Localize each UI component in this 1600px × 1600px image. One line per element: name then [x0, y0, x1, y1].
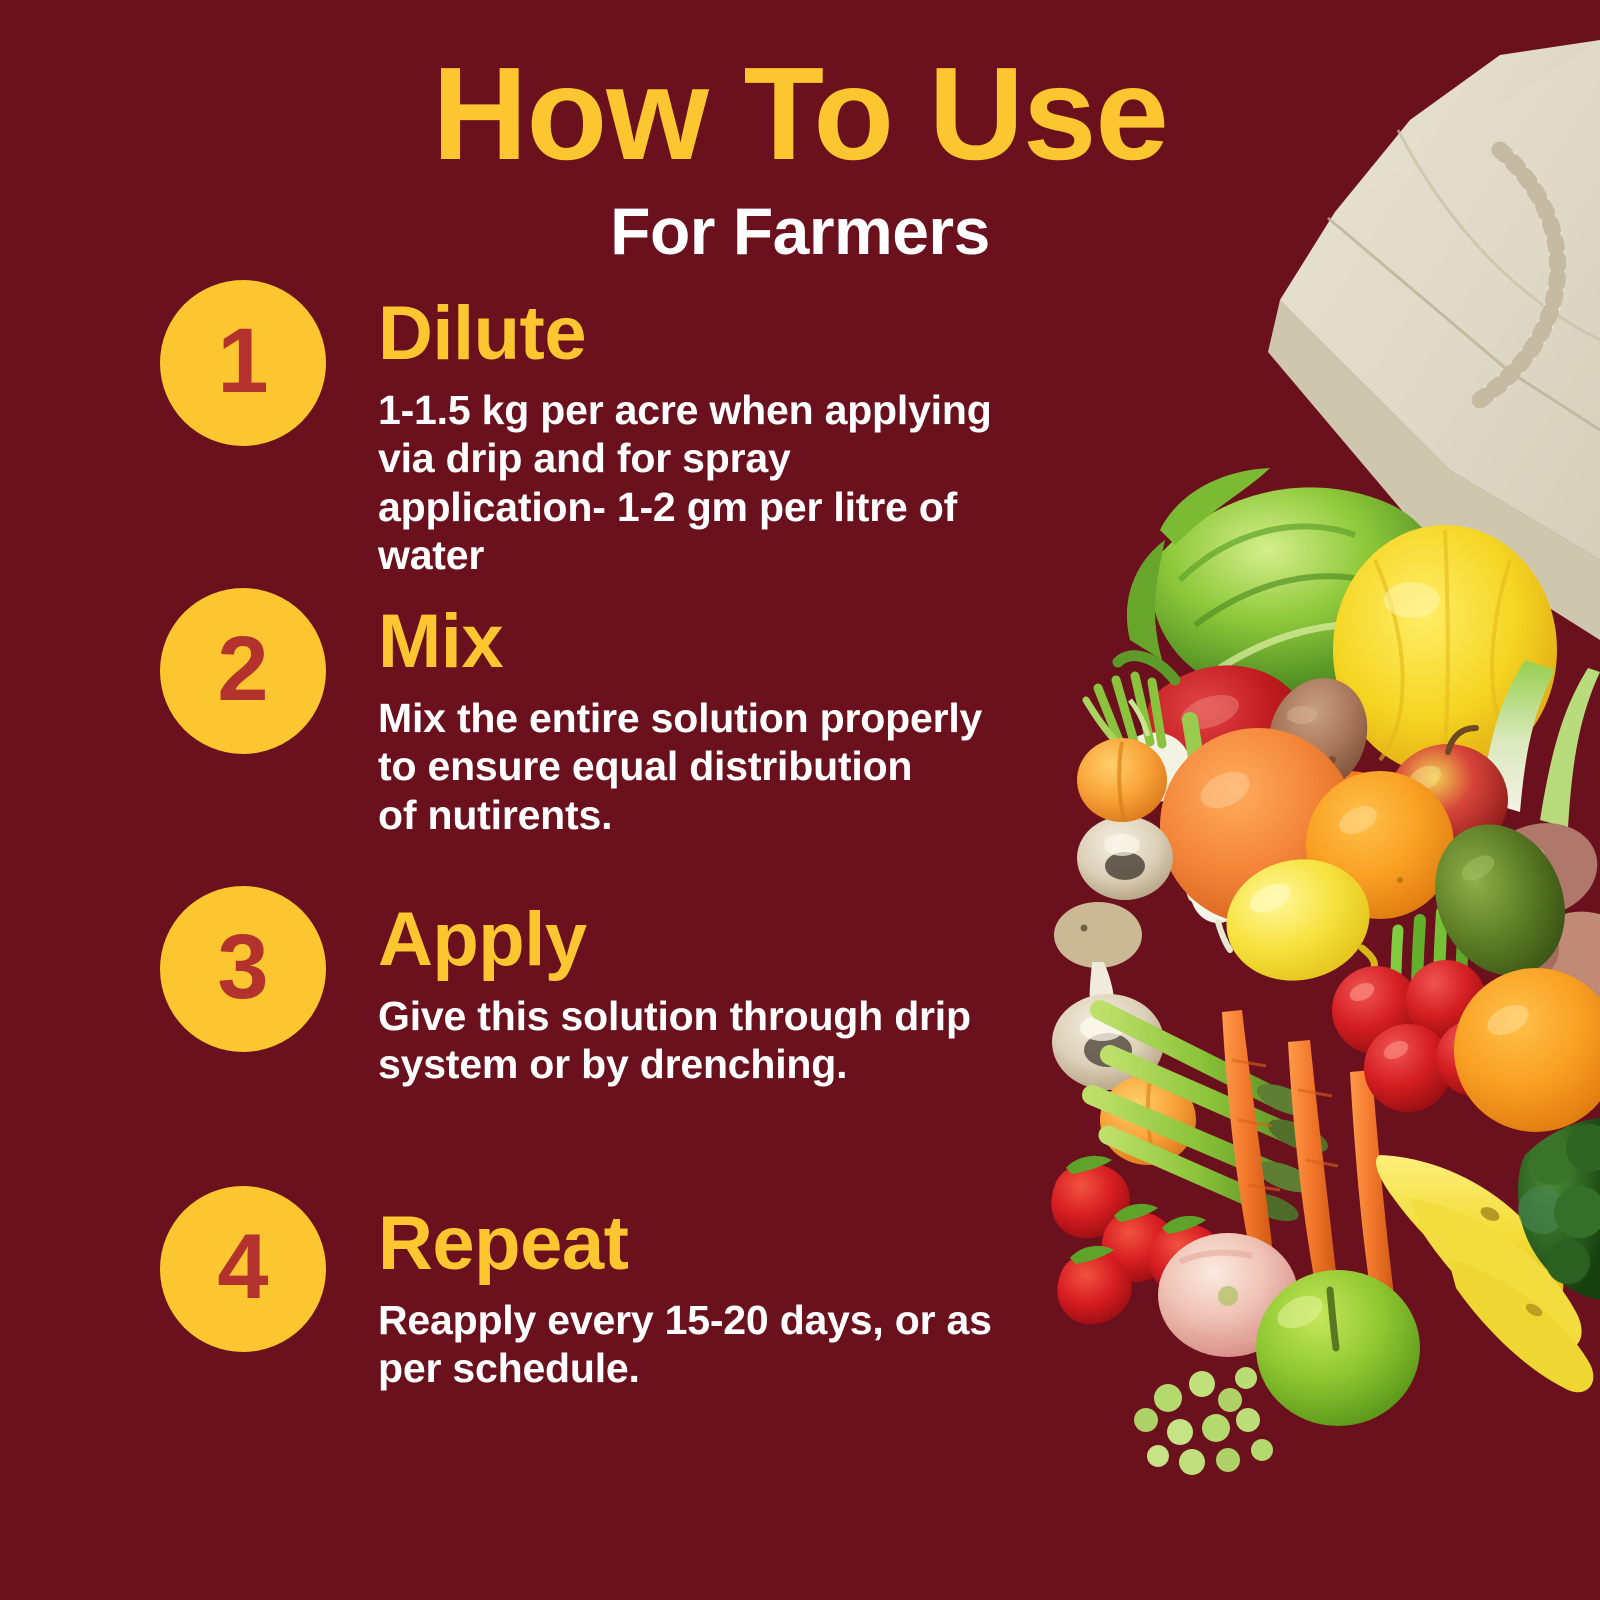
page-title: How To Use	[0, 48, 1600, 180]
step-description-3: Give this solution through drip system o…	[378, 992, 1060, 1089]
step-title-2: Mix	[378, 604, 1060, 680]
step-body-1: Dilute 1-1.5 kg per acre when applying v…	[378, 278, 1090, 580]
step-number-1: 1	[217, 315, 268, 407]
step-number-badge-4: 4	[160, 1186, 326, 1352]
green-peas	[1134, 1367, 1273, 1475]
step-description-1: 1-1.5 kg per acre when applying via drip…	[378, 386, 1060, 580]
step-body-2: Mix Mix the entire solution properly to …	[378, 588, 1090, 839]
step-body-3: Apply Give this solution through drip sy…	[378, 886, 1090, 1089]
green-apple	[1256, 1270, 1420, 1426]
page-subtitle: For Farmers	[0, 198, 1600, 264]
step-item-dilute: 1 Dilute 1-1.5 kg per acre when applying…	[0, 278, 1090, 580]
step-body-4: Repeat Reapply every 15-20 days, or as p…	[378, 1186, 1090, 1393]
step-item-mix: 2 Mix Mix the entire solution properly t…	[0, 588, 1090, 839]
step-number-4: 4	[217, 1221, 268, 1313]
mushroom-1	[1077, 816, 1173, 900]
step-title-1: Dilute	[378, 296, 1060, 372]
header: How To Use For Farmers	[0, 48, 1600, 264]
poster-canvas: How To Use For Farmers 1 Dilute 1-1.5 kg…	[0, 0, 1600, 1600]
step-title-3: Apply	[378, 902, 1060, 978]
step-item-repeat: 4 Repeat Reapply every 15-20 days, or as…	[0, 1186, 1090, 1393]
step-number-3: 3	[217, 921, 268, 1013]
step-item-apply: 3 Apply Give this solution through drip …	[0, 886, 1090, 1089]
step-number-badge-1: 1	[160, 280, 326, 446]
apricot-1	[1077, 738, 1167, 822]
step-number-badge-2: 2	[160, 588, 326, 754]
step-description-4: Reapply every 15-20 days, or as per sche…	[378, 1296, 1060, 1393]
step-description-2: Mix the entire solution properly to ensu…	[378, 694, 1060, 839]
step-number-2: 2	[217, 623, 268, 715]
step-number-badge-3: 3	[160, 886, 326, 1052]
step-title-4: Repeat	[378, 1206, 1060, 1282]
